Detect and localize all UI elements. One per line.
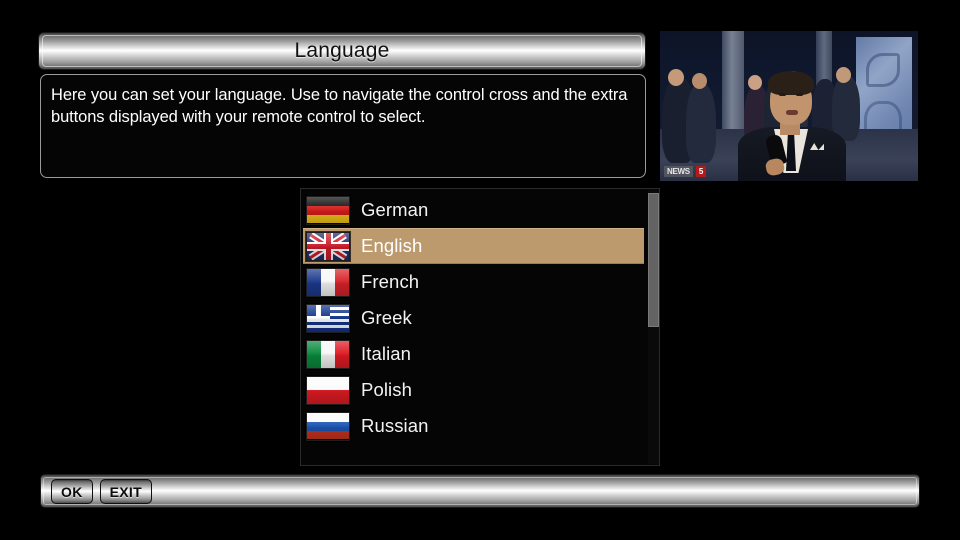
language-list-item-label: Russian — [361, 415, 429, 437]
video-reporter-eye-left — [779, 93, 786, 96]
flag-italy-icon — [306, 340, 350, 369]
bottom-action-bar: OKEXIT — [40, 474, 920, 508]
page-title: Language — [294, 39, 389, 63]
scrollbar-thumb[interactable] — [648, 193, 659, 327]
language-list-item-label: Greek — [361, 307, 412, 329]
language-list-item[interactable]: Russian — [303, 408, 645, 444]
language-list-panel: GermanEnglishFrenchGreekItalianPolishRus… — [300, 188, 660, 466]
language-list-item[interactable]: Italian — [303, 336, 645, 372]
video-reporter-hair — [768, 71, 814, 95]
tv-settings-screen: Language Here you can set your language.… — [0, 0, 960, 540]
language-list-item[interactable]: German — [303, 192, 645, 228]
video-ornament-shape-1 — [866, 53, 900, 87]
language-list-item-label: French — [361, 271, 419, 293]
broadcast-network-label: NEWS — [664, 166, 693, 177]
video-crowd-figure — [686, 83, 716, 163]
language-list: GermanEnglishFrenchGreekItalianPolishRus… — [303, 192, 645, 444]
video-reporter-mouth — [786, 110, 798, 115]
language-list-item-label: English — [361, 235, 422, 257]
language-list-scrollbar[interactable] — [648, 190, 659, 464]
language-list-item[interactable]: Polish — [303, 372, 645, 408]
broadcast-logo-bug: NEWS 5 — [664, 165, 706, 178]
language-list-item[interactable]: French — [303, 264, 645, 300]
video-pillar-left — [722, 31, 744, 143]
language-list-item-label: German — [361, 199, 428, 221]
flag-germany-icon — [306, 196, 350, 225]
language-list-item[interactable]: English — [303, 228, 644, 264]
video-crowd-head — [748, 75, 762, 90]
description-box: Here you can set your language. Use to n… — [40, 74, 646, 178]
video-crowd-head — [836, 67, 851, 83]
language-list-item-label: Italian — [361, 343, 411, 365]
page-title-bar: Language — [38, 32, 646, 70]
video-preview[interactable]: NEWS 5 — [660, 31, 918, 181]
language-list-item-label: Polish — [361, 379, 412, 401]
video-crowd-head — [692, 73, 707, 89]
language-list-item[interactable]: Greek — [303, 300, 645, 336]
broadcast-channel-label: 5 — [696, 166, 706, 177]
video-reporter-eye-right — [796, 93, 803, 96]
flag-poland-icon — [306, 376, 350, 405]
video-crowd-figure — [832, 75, 860, 141]
flag-united-kingdom-icon — [306, 232, 350, 261]
exit-button[interactable]: EXIT — [100, 479, 152, 504]
softkey-group: OKEXIT — [51, 479, 152, 504]
flag-russia-icon — [306, 412, 350, 441]
flag-greece-icon — [306, 304, 350, 333]
video-crowd-head — [668, 69, 684, 86]
flag-france-icon — [306, 268, 350, 297]
description-text: Here you can set your language. Use to n… — [51, 85, 633, 129]
ok-button[interactable]: OK — [51, 479, 93, 504]
